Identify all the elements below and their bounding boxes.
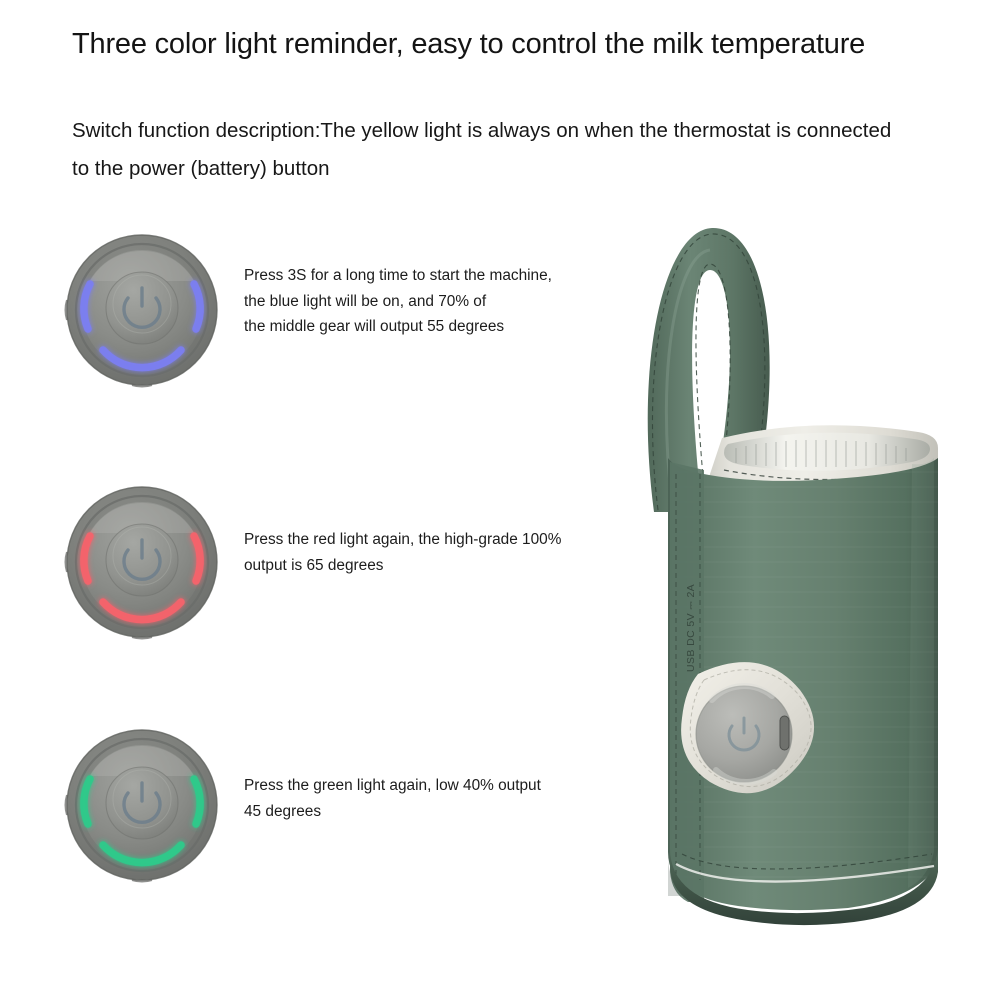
feature-line: 45 degrees	[244, 799, 624, 825]
power-button-red-led	[62, 482, 222, 642]
usb-rating-label: USB DC 5V ⎓ 2A	[685, 584, 697, 672]
feature-line: output is 65 degrees	[244, 553, 624, 579]
feature-row-blue-mode: Press 3S for a long time to start the ma…	[62, 230, 622, 390]
page-subtitle: Switch function description:The yellow l…	[72, 112, 892, 188]
product-photo-milk-bottle-warmer: ABC USB DC 5V ⎓ 2A	[612, 212, 1000, 952]
feature-text-green-mode: Press the green light again, low 40% out…	[244, 773, 624, 824]
feature-row-red-mode: Press the red light again, the high-grad…	[62, 482, 622, 642]
feature-line: the middle gear will output 55 degrees	[244, 314, 624, 340]
usb-port-slot	[780, 716, 789, 750]
feature-text-red-mode: Press the red light again, the high-grad…	[244, 527, 624, 578]
power-button-green-led	[62, 725, 222, 885]
power-button-blue-led	[62, 230, 222, 390]
feature-line: Press the red light again, the high-grad…	[244, 527, 624, 553]
feature-line: Press 3S for a long time to start the ma…	[244, 263, 624, 289]
feature-line: Press the green light again, low 40% out…	[244, 773, 624, 799]
feature-row-green-mode: Press the green light again, low 40% out…	[62, 725, 622, 885]
page-title: Three color light reminder, easy to cont…	[72, 28, 952, 61]
feature-text-blue-mode: Press 3S for a long time to start the ma…	[244, 263, 624, 340]
feature-line: the blue light will be on, and 70% of	[244, 289, 624, 315]
